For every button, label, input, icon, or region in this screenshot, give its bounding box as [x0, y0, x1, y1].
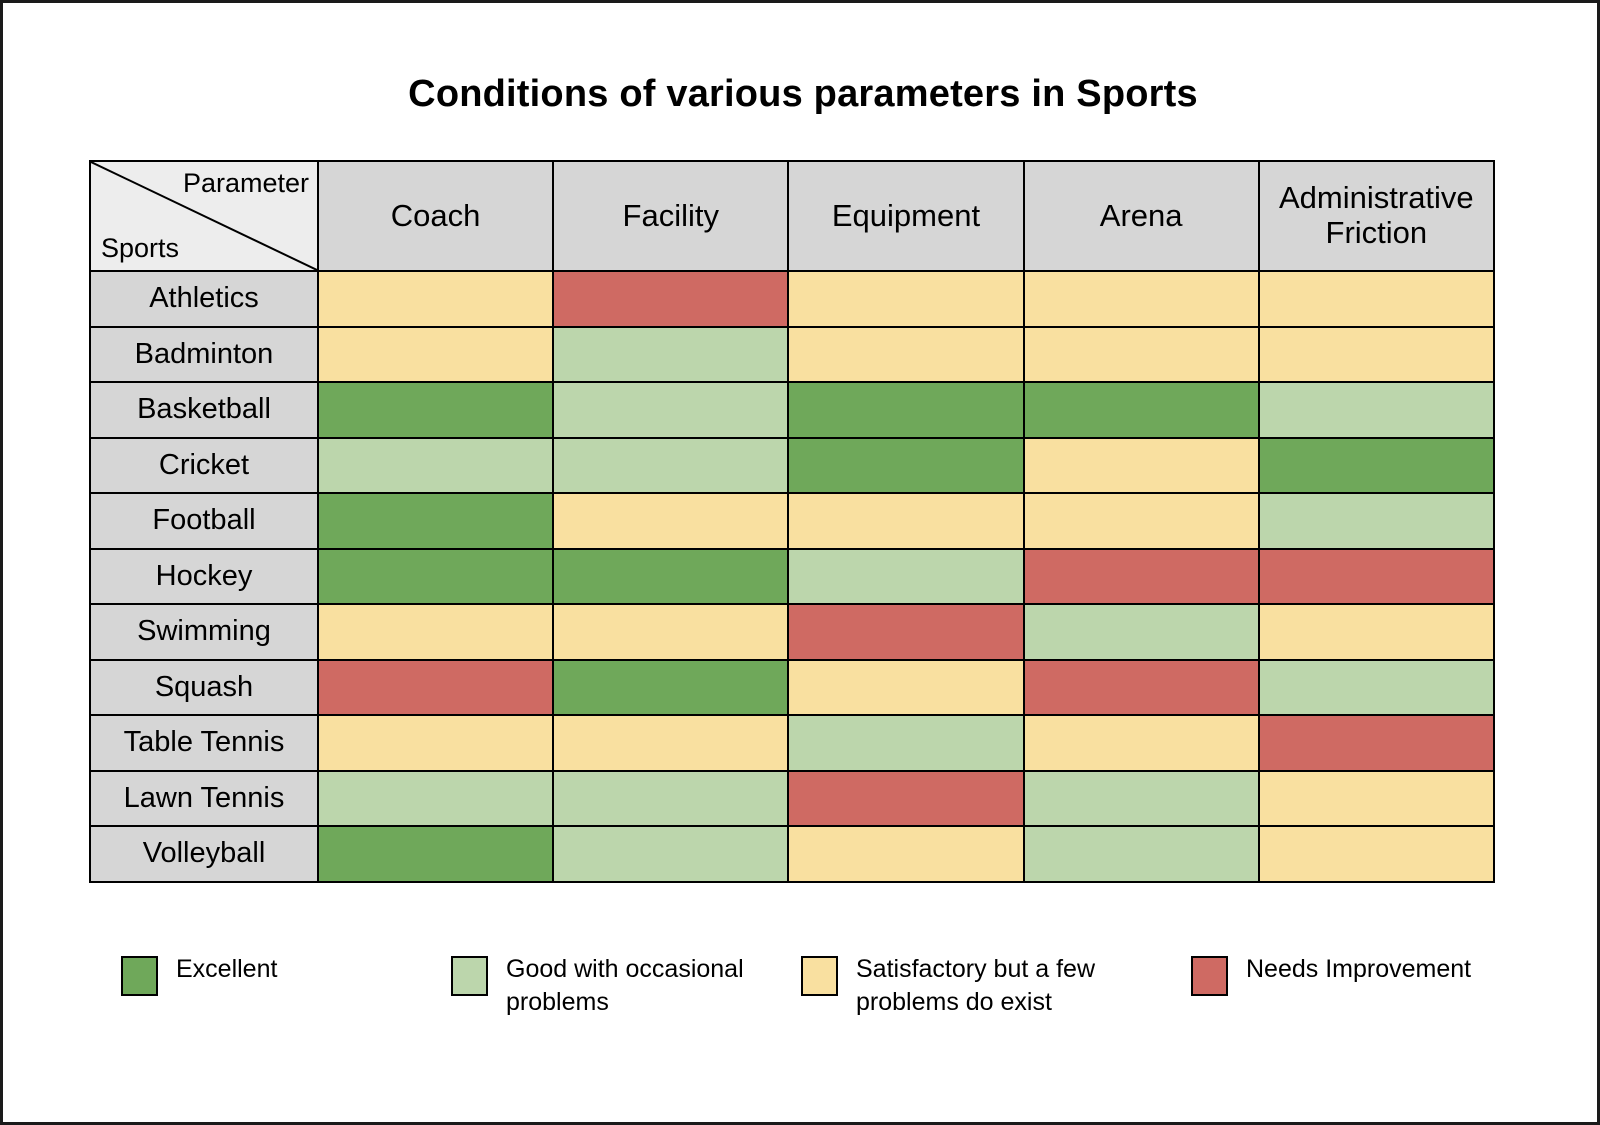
heatmap-cell — [788, 660, 1023, 716]
legend-swatch-excellent — [121, 956, 158, 996]
heatmap-cell — [553, 826, 788, 882]
heatmap-cell — [1024, 271, 1259, 327]
heatmap-cell — [1024, 549, 1259, 605]
heatmap-cell — [1024, 604, 1259, 660]
row-header: Badminton — [90, 327, 318, 383]
heatmap-cell — [318, 604, 553, 660]
legend-label: Good with occasional problems — [506, 953, 801, 1019]
heatmap-cell — [1024, 826, 1259, 882]
column-header: Coach — [318, 161, 553, 271]
heatmap-cell — [1024, 327, 1259, 383]
heatmap-cell — [788, 493, 1023, 549]
column-axis-label: Parameter — [183, 168, 309, 199]
chart-page: Conditions of various parameters in Spor… — [0, 0, 1600, 1125]
table-row: Volleyball — [90, 826, 1494, 882]
row-header: Hockey — [90, 549, 318, 605]
table-row: Hockey — [90, 549, 1494, 605]
table-row: Cricket — [90, 438, 1494, 494]
heatmap-cell — [553, 660, 788, 716]
legend-swatch-needs_improvement — [1191, 956, 1228, 996]
column-header: Administrative Friction — [1259, 161, 1494, 271]
heatmap-cell — [788, 715, 1023, 771]
heatmap-cell — [788, 549, 1023, 605]
table-header: Parameter Sports CoachFacilityEquipmentA… — [90, 161, 1494, 271]
table-row: Swimming — [90, 604, 1494, 660]
legend-label: Excellent — [176, 953, 277, 986]
heatmap-cell — [1259, 382, 1494, 438]
table-row: Basketball — [90, 382, 1494, 438]
heatmap-cell — [788, 771, 1023, 827]
row-header: Football — [90, 493, 318, 549]
heatmap-cell — [788, 327, 1023, 383]
conditions-table: Parameter Sports CoachFacilityEquipmentA… — [89, 160, 1495, 883]
heatmap-cell — [553, 493, 788, 549]
table-row: Badminton — [90, 327, 1494, 383]
heatmap-cell — [553, 604, 788, 660]
heatmap-cell — [1024, 493, 1259, 549]
heatmap-cell — [1024, 715, 1259, 771]
heatmap-cell — [553, 438, 788, 494]
legend-item: Needs Improvement — [1191, 953, 1491, 996]
legend-item: Good with occasional problems — [451, 953, 801, 1019]
heatmap-cell — [788, 382, 1023, 438]
heatmap-cell — [1259, 549, 1494, 605]
heatmap-cell — [1259, 493, 1494, 549]
heatmap-cell — [1024, 660, 1259, 716]
header-row: Parameter Sports CoachFacilityEquipmentA… — [90, 161, 1494, 271]
heatmap-cell — [1259, 327, 1494, 383]
heatmap-cell — [1259, 271, 1494, 327]
row-axis-label: Sports — [101, 233, 179, 264]
heatmap-cell — [553, 327, 788, 383]
row-header: Table Tennis — [90, 715, 318, 771]
legend-item: Satisfactory but a few problems do exist — [801, 953, 1191, 1019]
heatmap-cell — [1259, 604, 1494, 660]
heatmap-cell — [318, 771, 553, 827]
heatmap-cell — [1259, 438, 1494, 494]
table-row: Squash — [90, 660, 1494, 716]
table-body: AthleticsBadmintonBasketballCricketFootb… — [90, 271, 1494, 882]
heatmap-cell — [553, 271, 788, 327]
legend-swatch-good — [451, 956, 488, 996]
heatmap-cell — [1259, 715, 1494, 771]
heatmap-cell — [553, 715, 788, 771]
row-header: Cricket — [90, 438, 318, 494]
heatmap-cell — [318, 493, 553, 549]
heatmap-cell — [318, 382, 553, 438]
heatmap-cell — [788, 604, 1023, 660]
row-header: Athletics — [90, 271, 318, 327]
heatmap-cell — [553, 382, 788, 438]
heatmap-cell — [1259, 660, 1494, 716]
heatmap-cell — [553, 549, 788, 605]
legend-label: Satisfactory but a few problems do exist — [856, 953, 1191, 1019]
heatmap-cell — [318, 660, 553, 716]
table-row: Athletics — [90, 271, 1494, 327]
row-header: Volleyball — [90, 826, 318, 882]
heatmap-cell — [318, 715, 553, 771]
table-row: Football — [90, 493, 1494, 549]
column-header: Arena — [1024, 161, 1259, 271]
page-title: Conditions of various parameters in Spor… — [3, 73, 1600, 116]
heatmap-cell — [788, 826, 1023, 882]
corner-axis-cell: Parameter Sports — [90, 161, 318, 271]
legend-item: Excellent — [121, 953, 451, 996]
legend-label: Needs Improvement — [1246, 953, 1471, 986]
heatmap-cell — [1024, 382, 1259, 438]
legend-swatch-satisfactory — [801, 956, 838, 996]
heatmap-matrix: Parameter Sports CoachFacilityEquipmentA… — [89, 160, 1493, 883]
row-header: Squash — [90, 660, 318, 716]
row-header: Basketball — [90, 382, 318, 438]
heatmap-cell — [1259, 826, 1494, 882]
column-header: Equipment — [788, 161, 1023, 271]
heatmap-cell — [1024, 438, 1259, 494]
heatmap-cell — [318, 327, 553, 383]
table-row: Lawn Tennis — [90, 771, 1494, 827]
column-header: Facility — [553, 161, 788, 271]
heatmap-cell — [553, 771, 788, 827]
heatmap-cell — [318, 826, 553, 882]
heatmap-cell — [1259, 771, 1494, 827]
row-header: Lawn Tennis — [90, 771, 318, 827]
heatmap-cell — [318, 549, 553, 605]
legend: ExcellentGood with occasional problemsSa… — [89, 953, 1509, 1019]
heatmap-cell — [318, 438, 553, 494]
heatmap-cell — [318, 271, 553, 327]
heatmap-cell — [788, 438, 1023, 494]
heatmap-cell — [1024, 771, 1259, 827]
row-header: Swimming — [90, 604, 318, 660]
heatmap-cell — [788, 271, 1023, 327]
table-row: Table Tennis — [90, 715, 1494, 771]
